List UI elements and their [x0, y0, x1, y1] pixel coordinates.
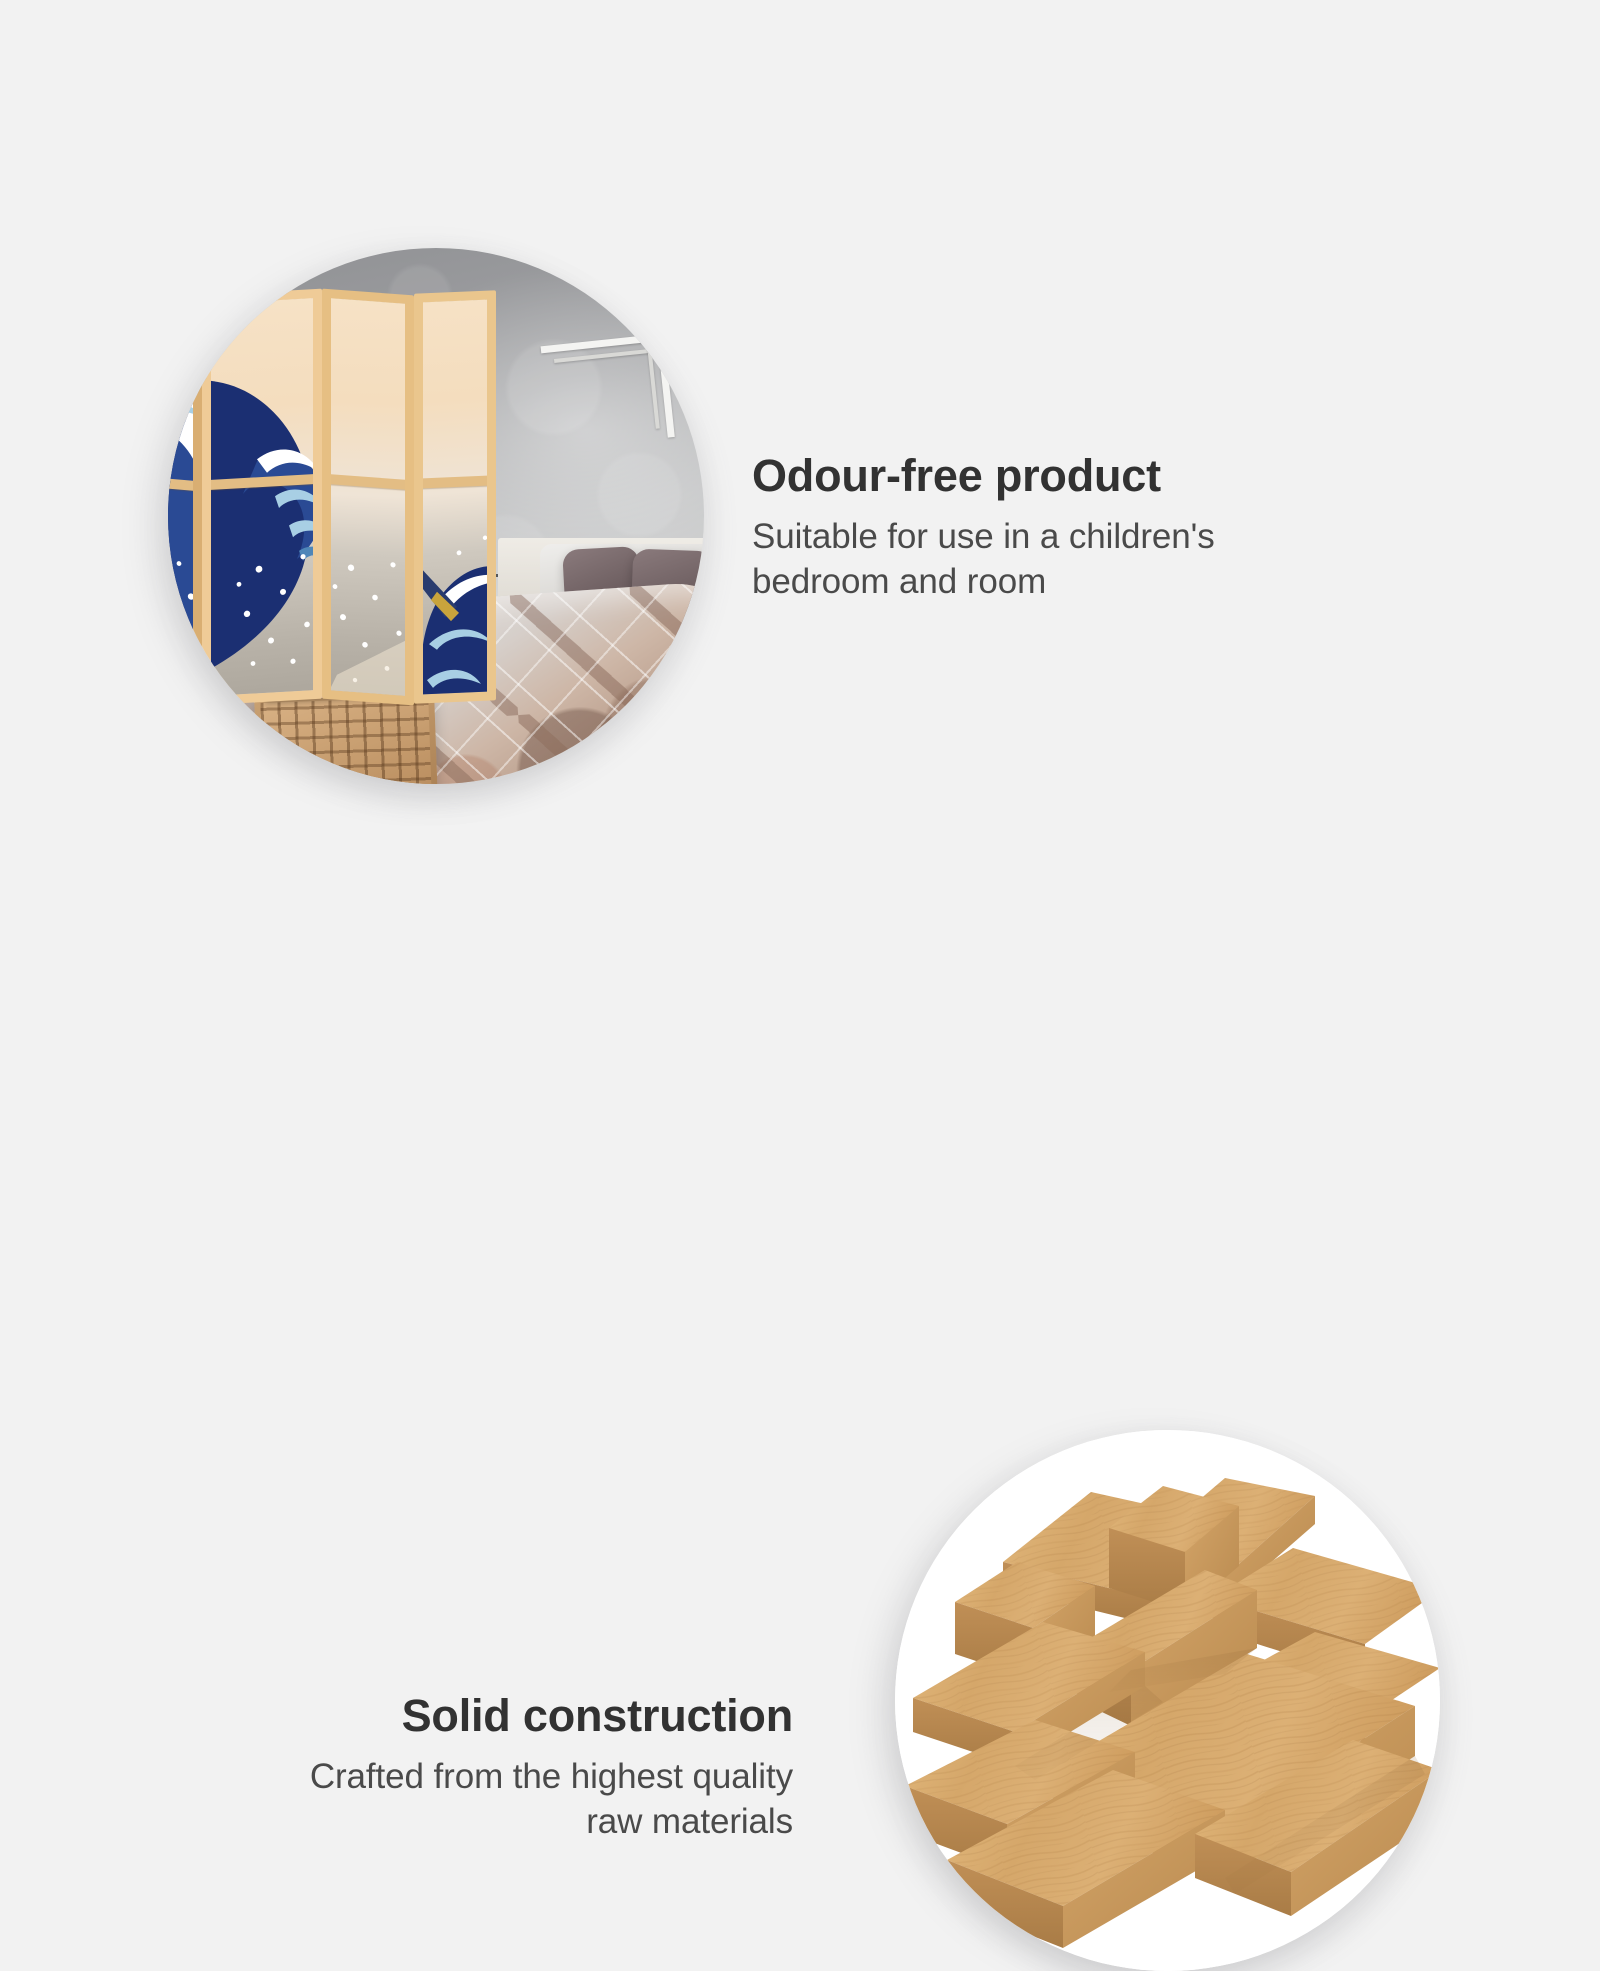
great-wave-artwork-icon: [414, 298, 496, 703]
screen-panel-4: [414, 290, 496, 703]
solid-construction-headline: Solid construction: [263, 1692, 793, 1740]
great-wave-artwork-icon: [202, 289, 322, 706]
odour-free-copy: Odour-free product Suitable for use in a…: [752, 452, 1272, 605]
picture-frame-corner-icon: [533, 333, 676, 456]
screen-panel-3: [322, 289, 414, 706]
odour-free-headline: Odour-free product: [752, 452, 1272, 500]
timber-scene: [895, 1430, 1440, 1971]
timber-image-circle: [895, 1430, 1440, 1971]
great-wave-artwork-icon: [168, 297, 202, 706]
feature-odour-free: Odour-free product Suitable for use in a…: [0, 0, 1600, 800]
stacked-timber-illustration: [895, 1430, 1440, 1971]
solid-construction-copy: Solid construction Crafted from the high…: [263, 1692, 793, 1845]
solid-construction-subline: Crafted from the highest quality raw mat…: [263, 1754, 793, 1845]
feature-solid-construction: Solid construction Crafted from the high…: [0, 700, 1600, 1320]
odour-free-subline: Suitable for use in a children's bedroom…: [752, 514, 1272, 605]
folding-room-divider: [168, 292, 508, 702]
great-wave-artwork-icon: [322, 289, 414, 706]
screen-panel-1: [168, 287, 202, 706]
screen-panel-2: [202, 289, 322, 706]
